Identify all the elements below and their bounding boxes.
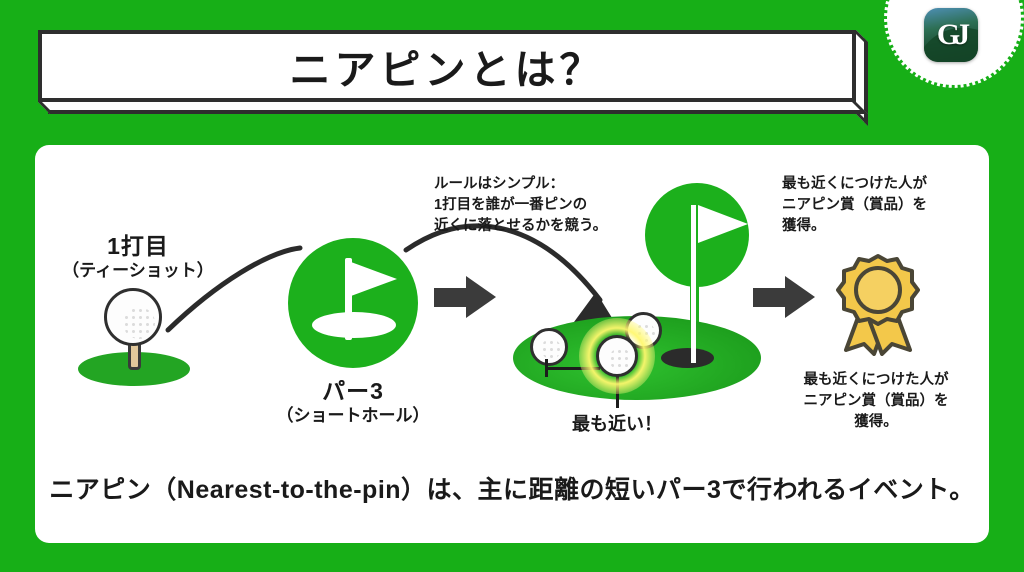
ball-dimples (123, 307, 155, 339)
par3-hole-icon (312, 312, 396, 338)
arrow-head (785, 276, 815, 318)
arrow-right-icon-1 (434, 276, 496, 318)
green-hole-icon (661, 348, 714, 368)
logo-monogram: GJ (924, 8, 978, 62)
prize-medal-icon (836, 252, 920, 356)
arrow-right-icon-2 (753, 276, 815, 318)
ball-dimples (609, 348, 631, 370)
green-flag-icon (698, 205, 748, 243)
arrow-shaft (434, 288, 470, 307)
summary-caption: ニアピン（Nearest-to-the-pin）は、主に距離の短いパー3で行われ… (35, 470, 989, 506)
prize-top-line3: 獲得。 (782, 216, 826, 237)
tee-shot-sublabel: （ティーショット） (38, 256, 238, 281)
prize-bottom-line1: 最も近くにつけた人が (770, 370, 982, 391)
prize-top-line2: ニアピン賞（賞品）を (782, 195, 927, 216)
green-flag-pole-inner-icon (691, 205, 696, 363)
app-logo-icon: GJ (924, 8, 978, 62)
golf-ball-on-tee-icon (104, 288, 162, 346)
title-plaque-bevel-bottom (38, 102, 868, 114)
prize-bottom-line3: 獲得。 (770, 412, 982, 433)
distance-measure-tick (545, 359, 548, 377)
rule-text-line1: ルールはシンプル： (434, 174, 564, 195)
arrow-shaft (753, 288, 789, 307)
infographic-canvas: GJ ニアピンとは？ 1打目 （ティーショット） パー3 （ショートホール） ル… (0, 0, 1024, 572)
rule-text-line3: 近くに落とせるかを競う。 (434, 216, 607, 237)
par3-flag-icon (351, 262, 397, 296)
par3-sublabel: （ショートホール） (253, 401, 453, 426)
prize-top-line1: 最も近くにつけた人が (782, 174, 927, 195)
rule-text-line2: 1打目を誰が一番ピンの (434, 195, 587, 216)
page-title: ニアピンとは？ (290, 36, 605, 96)
nearest-ball-label: 最も近い！ (537, 410, 697, 436)
title-plaque: ニアピンとは？ (38, 30, 856, 102)
ball-dimples (541, 339, 561, 359)
par3-badge-icon (288, 238, 418, 368)
arrow-head (466, 276, 496, 318)
golf-ball-nearest-icon (596, 335, 638, 377)
golf-ball-far-icon (530, 328, 568, 366)
prize-bottom-line2: ニアピン賞（賞品）を (770, 391, 982, 412)
